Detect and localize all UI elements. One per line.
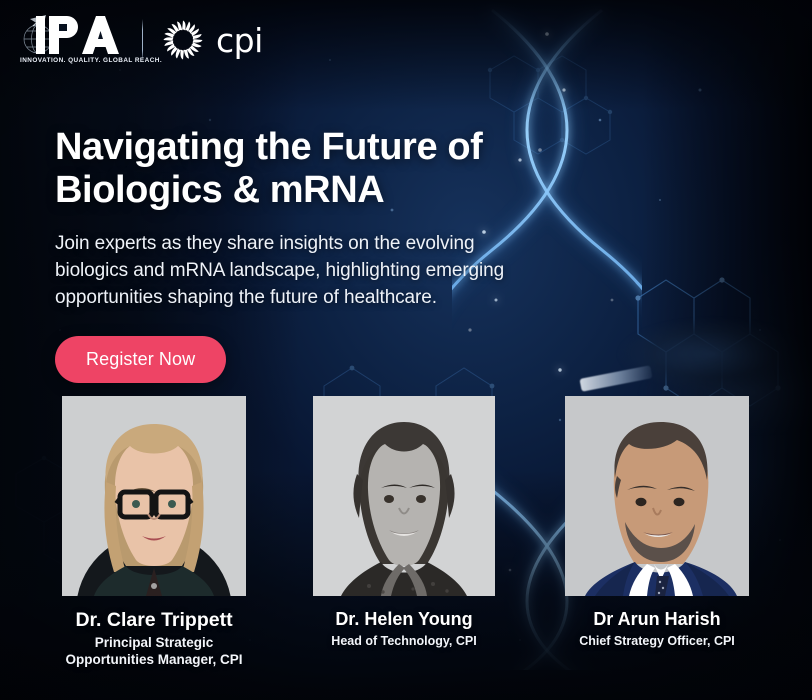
avatar (565, 396, 749, 596)
ipa-logo-icon (16, 13, 120, 57)
portrait-clare-trippett-image (62, 396, 246, 596)
avatar (313, 396, 495, 596)
speaker-card: Dr Arun Harish Chief Strategy Officer, C… (565, 396, 749, 649)
cpi-spiral-icon (161, 18, 205, 62)
speaker-role-line-1: Principal Strategic (95, 635, 214, 650)
speaker-card: Dr. Helen Young Head of Technology, CPI (313, 396, 495, 649)
speaker-name: Dr. Helen Young (313, 609, 495, 631)
cpi-logo[interactable]: cpi (161, 18, 263, 62)
ipa-logo[interactable]: INNOVATION. QUALITY. GLOBAL REACH. (16, 13, 120, 67)
headline-line-2: Biologics & mRNA (55, 169, 384, 211)
cpi-wordmark: cpi (216, 24, 263, 57)
page-title: Navigating the Future of Biologics & mRN… (55, 126, 555, 211)
speaker-card: Dr. Clare Trippett Principal Strategic O… (62, 396, 246, 669)
hero-subcopy: Join experts as they share insights on t… (55, 231, 547, 312)
logo-bar: INNOVATION. QUALITY. GLOBAL REACH. (16, 14, 263, 66)
avatar (62, 396, 246, 596)
promo-banner: INNOVATION. QUALITY. GLOBAL REACH. (0, 0, 812, 700)
speaker-role: Head of Technology, CPI (313, 634, 495, 650)
speaker-name: Dr Arun Harish (565, 609, 749, 631)
speaker-name: Dr. Clare Trippett (62, 609, 246, 632)
portrait-helen-young-image (313, 396, 495, 596)
ipa-tagline: INNOVATION. QUALITY. GLOBAL REACH. (20, 57, 162, 64)
portrait-arun-harish-image (565, 396, 749, 596)
speaker-role: Chief Strategy Officer, CPI (565, 634, 749, 650)
register-now-button[interactable]: Register Now (55, 336, 226, 383)
headline-line-1: Navigating the Future of (55, 126, 482, 168)
speaker-role: Principal Strategic Opportunities Manage… (62, 635, 246, 669)
logo-divider (142, 19, 143, 61)
hero-section: Navigating the Future of Biologics & mRN… (55, 126, 555, 383)
speaker-role-line-2: Opportunities Manager, CPI (65, 652, 242, 667)
